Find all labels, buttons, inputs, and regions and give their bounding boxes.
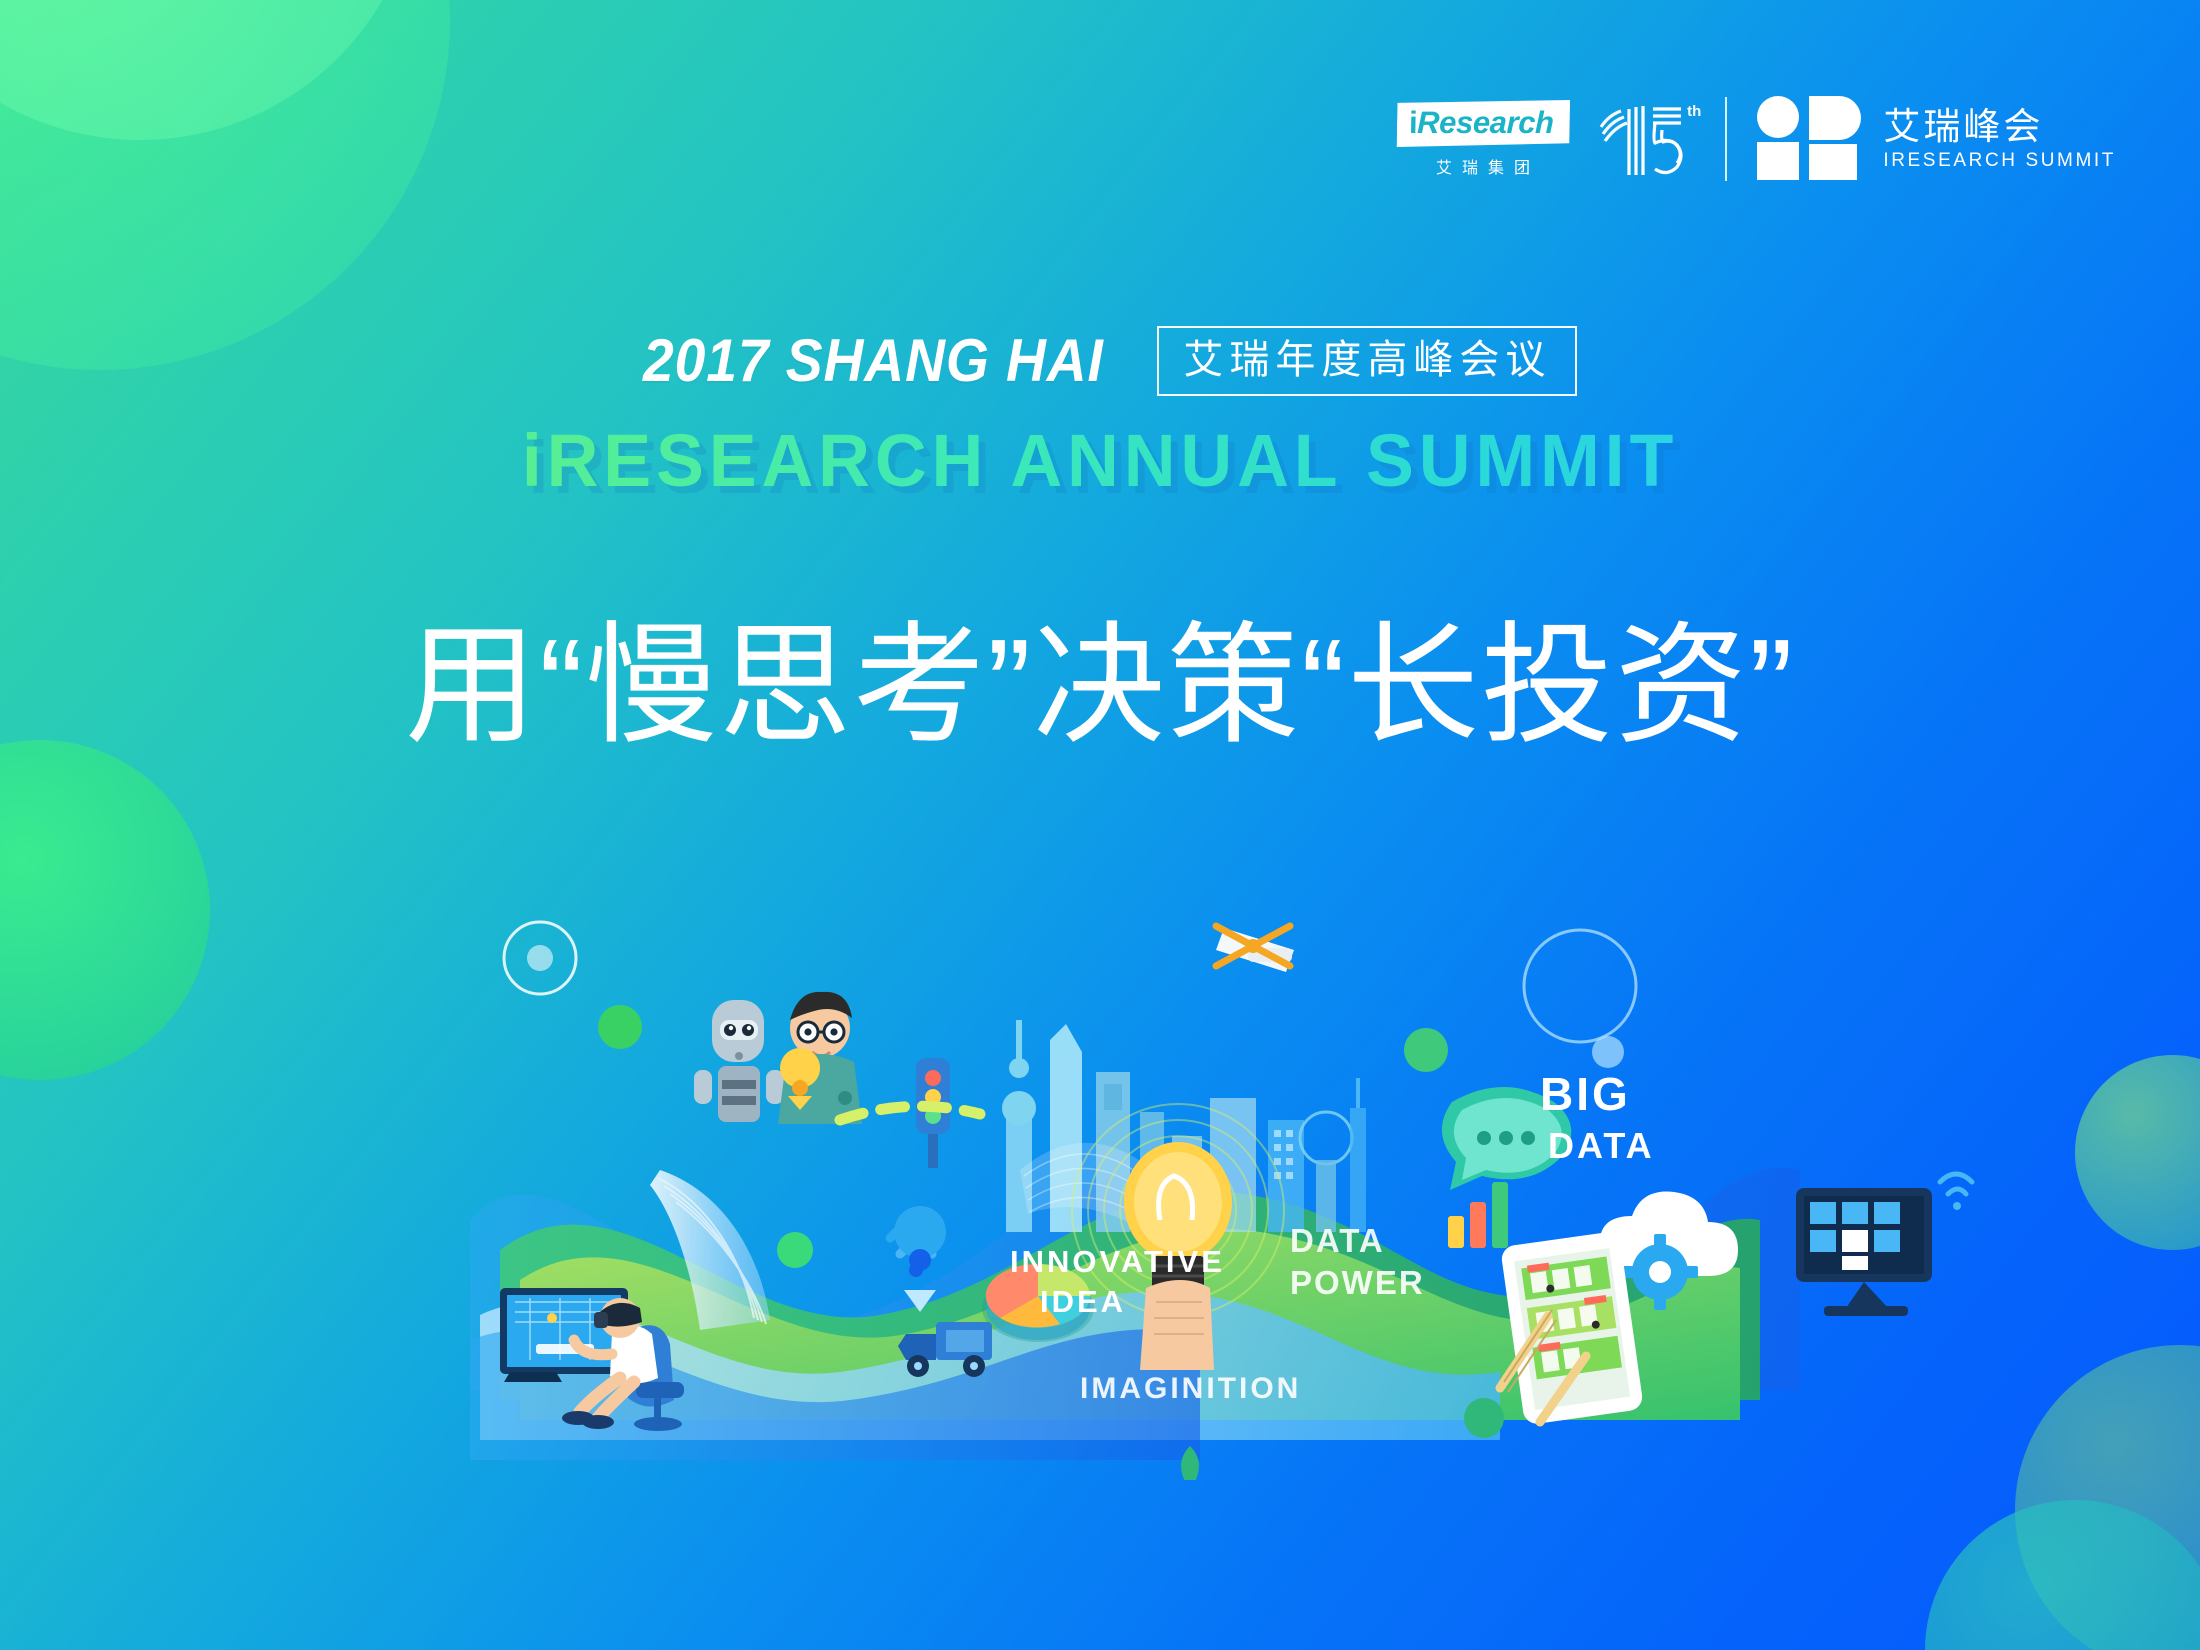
- robot-body: [718, 1066, 760, 1122]
- iresearch-wordmark-rest: Research: [1417, 105, 1554, 140]
- ring-decor-right: [1524, 930, 1636, 1068]
- anniversary-suffix: th: [1687, 103, 1701, 120]
- smart-tv-icon: [1796, 1174, 1972, 1316]
- summit-r-mark-icon: [1753, 96, 1861, 182]
- label-big: BIG: [1540, 1068, 1631, 1120]
- summit-logo-lockup: 艾瑞峰会 IRESEARCH SUMMIT: [1753, 96, 2116, 182]
- label-data: DATA: [1290, 1222, 1385, 1259]
- label-innovative: INNOVATIVE: [1010, 1244, 1225, 1279]
- cn-badge-label: 艾瑞年度高峰会议: [1183, 338, 1551, 382]
- summit-cn-title: 艾瑞峰会: [1883, 108, 2116, 145]
- title-row: 2017 SHANG HAI 艾瑞年度高峰会议: [0, 326, 2200, 396]
- cn-badge-box: 艾瑞年度高峰会议: [1157, 326, 1577, 396]
- decor-circle-bottomright-inner: [1925, 1500, 2200, 1650]
- label-power: POWER: [1290, 1264, 1425, 1301]
- logo-divider: [1725, 97, 1727, 181]
- iresearch-cn-subtitle: 艾瑞集团: [1426, 154, 1540, 178]
- ring-decor-left: [504, 922, 576, 994]
- iresearch-group-logo: iResearch 艾瑞集团: [1397, 100, 1570, 178]
- brand-logo-bar: iResearch 艾瑞集团 th: [1397, 96, 2116, 182]
- year-city-title: 2017 SHANG HAI: [643, 331, 1104, 391]
- hero-illustration: INNOVATIVE IDEA IMAGINITION DATA POWER B…: [0, 920, 2200, 1480]
- anniversary-15th-icon: th: [1595, 97, 1699, 181]
- dot-green-1: [598, 1005, 642, 1049]
- label-idea: IDEA: [1040, 1284, 1126, 1319]
- summit-en-title: IRESEARCH SUMMIT: [1883, 151, 2116, 170]
- decor-circle-topleft-outer: [0, 0, 450, 370]
- road-dashes: [840, 1106, 980, 1120]
- dot-green-4: [1464, 1398, 1504, 1438]
- decor-circle-topleft-inner: [0, 0, 420, 140]
- summit-headline-en: iRESEARCH ANNUAL SUMMIT: [33, 424, 2167, 498]
- drone-icon: [1216, 926, 1294, 972]
- dot-green-2: [777, 1232, 813, 1268]
- label-bigdata: DATA: [1548, 1125, 1655, 1166]
- poster-canvas: iResearch 艾瑞集团 th: [0, 0, 2200, 1650]
- hand: [1140, 1280, 1214, 1370]
- iresearch-wordmark: iResearch: [1396, 100, 1569, 147]
- label-imagination: IMAGINITION: [1080, 1372, 1301, 1405]
- main-headline-cn: 用“慢思考”决策“长投资”: [0, 608, 2200, 764]
- mall-on-phone-icon: [1500, 1231, 1644, 1426]
- tv-wifi-icon: [1940, 1174, 1972, 1210]
- bar-chart-icon: [1448, 1182, 1508, 1248]
- dot-green-3: [1404, 1028, 1448, 1072]
- robot-and-person: [694, 992, 862, 1124]
